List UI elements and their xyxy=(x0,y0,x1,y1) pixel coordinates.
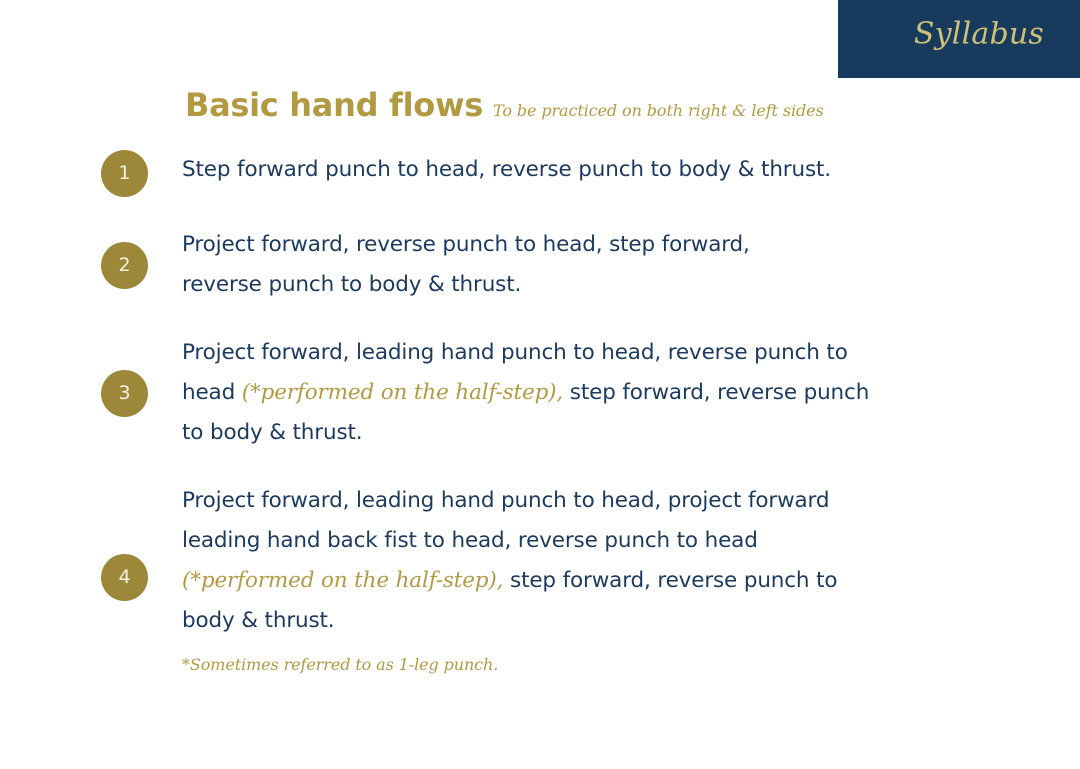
text-run: Project forward, leading hand punch to h… xyxy=(182,488,829,513)
list-item-bullet-column: 1 xyxy=(0,150,182,197)
list-item: 1Step forward punch to head, reverse pun… xyxy=(0,150,1080,197)
page-title: Basic hand flows To be practiced on both… xyxy=(185,86,824,124)
list-item-number-badge: 4 xyxy=(101,554,148,601)
list-item-line: Project forward, leading hand punch to h… xyxy=(182,333,920,373)
list-item-text: Project forward, leading hand punch to h… xyxy=(182,333,1080,453)
list-item-bullet-column: 2 xyxy=(0,225,182,305)
list-item-number-badge: 3 xyxy=(101,370,148,417)
list-item-line: leading hand back fist to head, reverse … xyxy=(182,521,920,561)
text-run: head xyxy=(182,380,242,405)
text-run: Project forward, leading hand punch to h… xyxy=(182,340,848,365)
list-item: 2Project forward, reverse punch to head,… xyxy=(0,225,1080,305)
text-run: Step forward punch to head, reverse punc… xyxy=(182,157,831,182)
list-item-line: body & thrust. xyxy=(182,601,920,641)
list-item-number-badge: 2 xyxy=(101,242,148,289)
list-item: 4Project forward, leading hand punch to … xyxy=(0,481,1080,674)
list-item-line: reverse punch to body & thrust. xyxy=(182,265,920,305)
hand-flows-list: 1Step forward punch to head, reverse pun… xyxy=(0,150,1080,702)
list-item-bullet-column: 4 xyxy=(0,481,182,674)
slide: Syllabus Basic hand flows To be practice… xyxy=(0,0,1080,769)
list-item-text: Step forward punch to head, reverse punc… xyxy=(182,150,1080,190)
list-item-line: Project forward, leading hand punch to h… xyxy=(182,481,920,521)
text-run: step forward, reverse punch xyxy=(563,380,869,405)
list-item: 3Project forward, leading hand punch to … xyxy=(0,333,1080,453)
syllabus-banner-label: Syllabus xyxy=(914,17,1044,52)
list-item-line: (*performed on the half-step), step forw… xyxy=(182,561,920,601)
list-item-text: Project forward, reverse punch to head, … xyxy=(182,225,1080,305)
list-item-number-badge: 1 xyxy=(101,150,148,197)
text-run: reverse punch to body & thrust. xyxy=(182,272,521,297)
footnote: *Sometimes referred to as 1-leg punch. xyxy=(182,655,920,674)
list-item-line: Project forward, reverse punch to head, … xyxy=(182,225,920,265)
text-run: body & thrust. xyxy=(182,608,335,633)
text-run: leading hand back fist to head, reverse … xyxy=(182,528,758,553)
text-run: step forward, reverse punch to xyxy=(503,568,837,593)
emphasis-note: (*performed on the half-step), xyxy=(242,380,563,405)
list-item-line: Step forward punch to head, reverse punc… xyxy=(182,150,920,190)
list-item-bullet-column: 3 xyxy=(0,333,182,453)
page-title-main: Basic hand flows xyxy=(185,86,483,124)
text-run: Project forward, reverse punch to head, … xyxy=(182,232,750,257)
syllabus-banner: Syllabus xyxy=(838,0,1080,78)
list-item-line: to body & thrust. xyxy=(182,413,920,453)
list-item-text: Project forward, leading hand punch to h… xyxy=(182,481,1080,674)
list-item-line: head (*performed on the half-step), step… xyxy=(182,373,920,413)
text-run: to body & thrust. xyxy=(182,420,362,445)
page-title-subtitle: To be practiced on both right & left sid… xyxy=(493,101,824,120)
emphasis-note: (*performed on the half-step), xyxy=(182,568,503,593)
